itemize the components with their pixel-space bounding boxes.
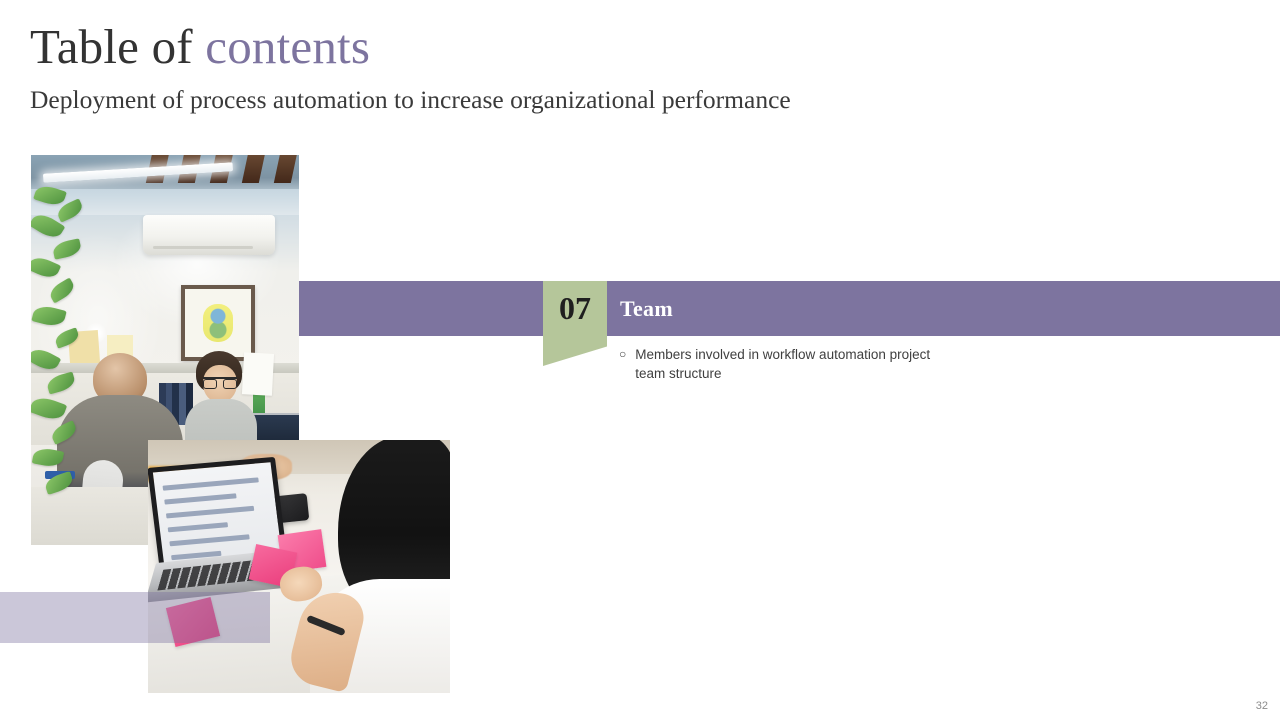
photo-framed-picture [181, 285, 255, 361]
toc-entry-heading: Team [620, 281, 673, 336]
slide-canvas: Table of contents Deployment of process … [0, 0, 1280, 720]
photo-paper-sheet [242, 352, 274, 396]
page-subtitle: Deployment of process automation to incr… [30, 84, 791, 116]
page-number: 32 [1256, 700, 1268, 712]
toc-entry-bullet: ○ Members involved in workflow automatio… [619, 345, 949, 383]
laptop-sticky-notes-photo [148, 440, 450, 693]
photo-woman-glasses [203, 377, 237, 387]
bullet-circle-icon: ○ [619, 345, 626, 364]
accent-bar [0, 592, 270, 643]
page-title-primary: Table of [30, 19, 193, 74]
toc-entry-banner [299, 281, 1280, 336]
photo-air-conditioner [143, 215, 275, 255]
toc-entry-number: 07 [543, 281, 607, 336]
page-title-accent: contents [205, 19, 370, 74]
page-title: Table of contents [30, 18, 370, 76]
photo-hanging-plant [31, 183, 95, 513]
toc-entry-bullet-text: Members involved in workflow automation … [635, 345, 949, 383]
